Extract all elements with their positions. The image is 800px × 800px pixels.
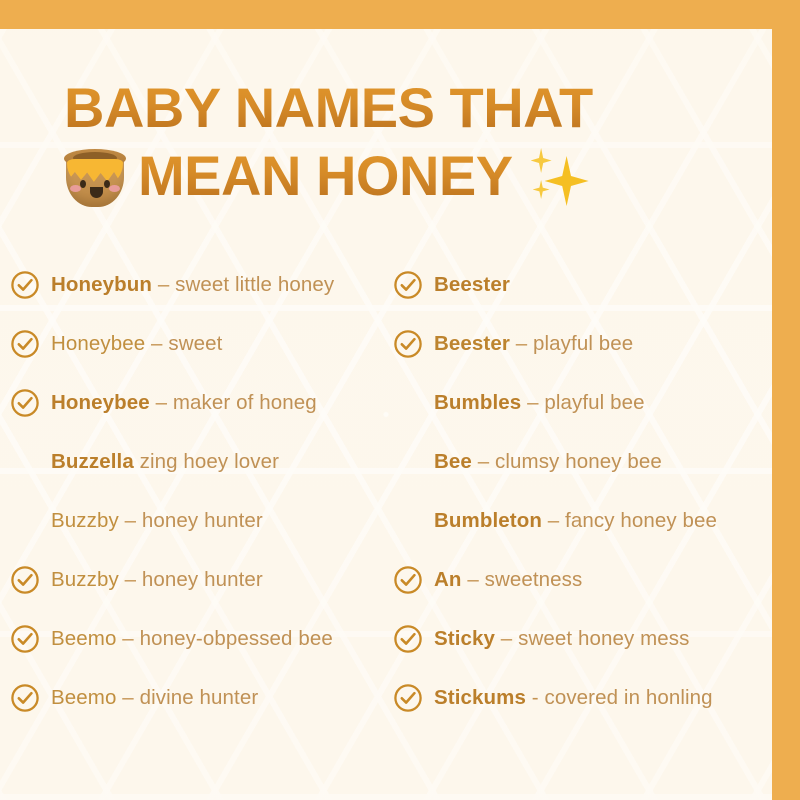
check-circle-icon[interactable] [10, 624, 40, 654]
name-entry: Buzzby – honey hunter [51, 568, 263, 592]
poster-content: BABY NAMES THAT MEAN HONEY [0, 29, 772, 800]
name-entry: Honeybun – sweet little honey [51, 273, 334, 297]
baby-name: Sticky [434, 627, 495, 650]
name-entry: Stickums - covered in honling [434, 686, 713, 710]
name-row[interactable]: Honeybee – maker of honeg [10, 373, 389, 432]
name-meaning: covered in honling [544, 686, 712, 709]
name-list-right-column: BeesterBeester – playful beeBumbles – pl… [389, 255, 768, 727]
name-lists: Honeybun – sweet little honeyHoneybee – … [0, 255, 772, 727]
name-entry: Bumbles – playful bee [434, 391, 645, 415]
name-row[interactable]: Beester – playful bee [393, 314, 768, 373]
name-entry: Beemo – honey-obpessed bee [51, 627, 333, 651]
name-entry: Bumbleton – fancy honey bee [434, 509, 717, 533]
baby-name: Stickums [434, 686, 526, 709]
headline-line-2-row: MEAN HONEY [64, 143, 746, 209]
name-separator: – [495, 627, 518, 650]
name-separator: – [462, 568, 485, 591]
name-row[interactable]: Honeybun – sweet little honey [10, 255, 389, 314]
name-separator: – [521, 391, 544, 414]
name-row[interactable]: Bumbleton – fancy honey bee [393, 491, 768, 550]
check-circle-icon[interactable] [393, 329, 423, 359]
name-row[interactable]: Sticky – sweet honey mess [393, 609, 768, 668]
baby-name: Buzzby [51, 568, 119, 591]
check-circle-icon[interactable] [10, 270, 40, 300]
check-circle-icon[interactable] [10, 388, 40, 418]
name-separator: – [119, 509, 142, 532]
check-circle-icon[interactable] [393, 270, 423, 300]
name-separator: - [526, 686, 545, 709]
name-entry: Sticky – sweet honey mess [434, 627, 689, 651]
baby-name: Bumbleton [434, 509, 542, 532]
name-separator: – [542, 509, 565, 532]
name-separator: – [152, 273, 175, 296]
name-row[interactable]: Bumbles – playful bee [393, 373, 768, 432]
check-circle-icon[interactable] [10, 683, 40, 713]
baby-name: Bumbles [434, 391, 521, 414]
poster-frame: BABY NAMES THAT MEAN HONEY [0, 0, 800, 800]
baby-name: Honeybun [51, 273, 152, 296]
name-entry: Buzzella zing hoey lover [51, 450, 279, 474]
check-circle-icon[interactable] [10, 565, 40, 595]
baby-name: Honeybee [51, 332, 145, 355]
check-circle-icon[interactable] [10, 329, 40, 359]
name-entry: Beester [434, 273, 510, 297]
name-row[interactable]: Honeybee – sweet [10, 314, 389, 373]
name-meaning: divine hunter [140, 686, 259, 709]
name-meaning: zing hoey lover [140, 450, 279, 473]
name-list-left-column: Honeybun – sweet little honeyHoneybee – … [10, 255, 389, 727]
name-entry: Honeybee – sweet [51, 332, 222, 356]
name-separator: – [116, 686, 139, 709]
name-meaning: sweetness [485, 568, 583, 591]
name-row[interactable]: Buzzby – honey hunter [10, 550, 389, 609]
name-meaning: sweet honey mess [518, 627, 689, 650]
name-separator: – [150, 391, 173, 414]
name-separator: – [510, 332, 533, 355]
name-row[interactable]: An – sweetness [393, 550, 768, 609]
name-meaning: sweet [168, 332, 222, 355]
name-meaning: sweet little honey [175, 273, 334, 296]
name-entry: Beester – playful bee [434, 332, 633, 356]
baby-name: An [434, 568, 462, 591]
check-circle-icon[interactable] [393, 683, 423, 713]
name-row[interactable]: Beemo – divine hunter [10, 668, 389, 727]
name-entry: Bee – clumsy honey bee [434, 450, 662, 474]
name-row[interactable]: Beester [393, 255, 768, 314]
headline-block: BABY NAMES THAT MEAN HONEY [0, 29, 772, 209]
name-row[interactable]: Buzzella zing hoey lover [10, 432, 389, 491]
name-row[interactable]: Stickums - covered in honling [393, 668, 768, 727]
name-meaning: playful bee [533, 332, 633, 355]
poster-card: BABY NAMES THAT MEAN HONEY [0, 29, 772, 800]
name-meaning: maker of honeg [173, 391, 317, 414]
name-separator: – [116, 627, 139, 650]
baby-name: Buzzella [51, 450, 134, 473]
check-circle-icon[interactable] [393, 624, 423, 654]
name-meaning: honey hunter [142, 509, 263, 532]
name-meaning: playful bee [544, 391, 644, 414]
name-separator: – [119, 568, 142, 591]
name-separator: – [145, 332, 168, 355]
name-row[interactable]: Buzzby – honey hunter [10, 491, 389, 550]
name-separator: – [472, 450, 495, 473]
baby-name: Bee [434, 450, 472, 473]
headline-line-1: BABY NAMES THAT [64, 77, 746, 139]
baby-name: Beemo [51, 627, 116, 650]
baby-name: Beemo [51, 686, 116, 709]
name-meaning: honey-obpessed bee [140, 627, 333, 650]
headline-line-2: MEAN HONEY [138, 145, 513, 207]
baby-name: Honeybee [51, 391, 150, 414]
name-row[interactable]: Bee – clumsy honey bee [393, 432, 768, 491]
baby-name: Beester [434, 332, 510, 355]
name-meaning: fancy honey bee [565, 509, 717, 532]
name-row[interactable]: Beemo – honey-obpessed bee [10, 609, 389, 668]
baby-name: Beester [434, 273, 510, 296]
name-entry: Honeybee – maker of honeg [51, 391, 317, 415]
name-meaning: honey hunter [142, 568, 263, 591]
name-entry: Buzzby – honey hunter [51, 509, 263, 533]
sparkles-icon [529, 144, 599, 208]
name-entry: Beemo – divine hunter [51, 686, 258, 710]
honey-pot-icon [64, 143, 126, 209]
check-circle-icon[interactable] [393, 565, 423, 595]
name-entry: An – sweetness [434, 568, 582, 592]
baby-name: Buzzby [51, 509, 119, 532]
name-meaning: clumsy honey bee [495, 450, 662, 473]
